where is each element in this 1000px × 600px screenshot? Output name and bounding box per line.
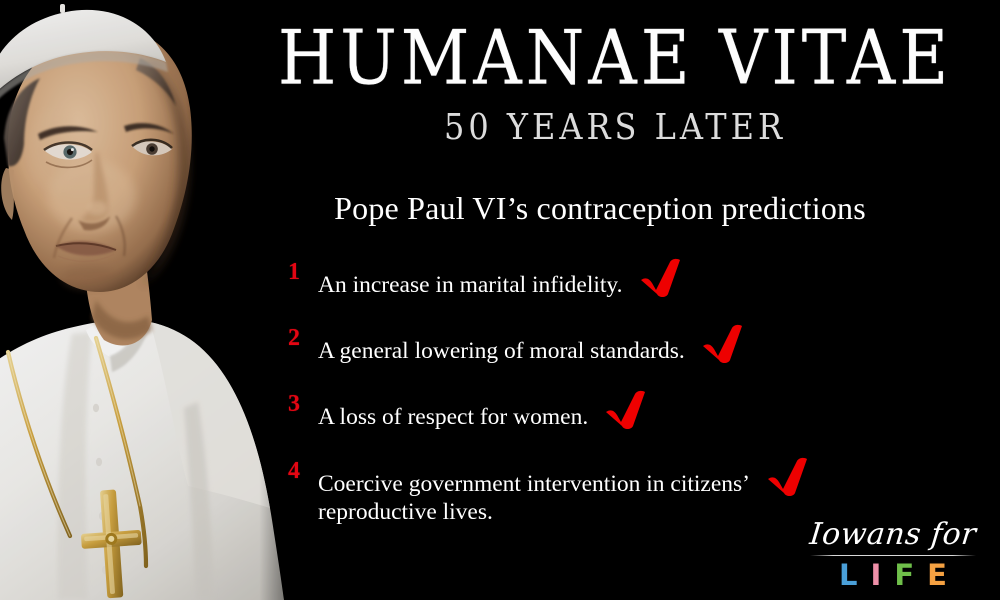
- headline-text: Pope Paul VI’s contraception predictions: [235, 190, 965, 227]
- check-icon: [764, 457, 810, 497]
- iowans-for-life-logo[interactable]: Iowans for L I F E: [804, 520, 982, 591]
- list-item-text: An increase in marital infidelity.: [318, 272, 623, 298]
- list-item-number: 4: [288, 457, 318, 485]
- logo-script-text: Iowans for: [802, 520, 983, 550]
- list-item-number: 1: [288, 258, 318, 286]
- predictions-list: 1 An increase in marital infidelity. 2 A…: [288, 258, 948, 527]
- check-icon: [699, 324, 745, 364]
- logo-life-word: L I F E: [804, 561, 982, 590]
- list-item: 2 A general lowering of moral standards.: [288, 324, 948, 365]
- logo-letter-i: I: [871, 561, 882, 590]
- title-block: HUMANAE VITAE 50 YEARS LATER: [265, 22, 965, 144]
- page-title: HUMANAE VITAE: [265, 22, 965, 96]
- list-item-text: Coercive government intervention in citi…: [318, 471, 750, 497]
- logo-letter-e: E: [927, 561, 947, 590]
- list-item: 3 A loss of respect for women.: [288, 390, 948, 431]
- logo-divider: [810, 555, 976, 557]
- check-icon: [637, 258, 683, 298]
- page-subtitle: 50 YEARS LATER: [265, 106, 965, 148]
- list-item-number: 2: [288, 324, 318, 352]
- list-item-number: 3: [288, 390, 318, 418]
- check-icon: [602, 390, 648, 430]
- list-item: 1 An increase in marital infidelity.: [288, 258, 948, 299]
- list-item-text: A general lowering of moral standards.: [318, 338, 685, 364]
- list-item-text: A loss of respect for women.: [318, 404, 588, 430]
- poster-canvas: HUMANAE VITAE 50 YEARS LATER Pope Paul V…: [0, 0, 1000, 600]
- logo-letter-l: L: [839, 561, 857, 590]
- logo-letter-f: F: [894, 561, 914, 590]
